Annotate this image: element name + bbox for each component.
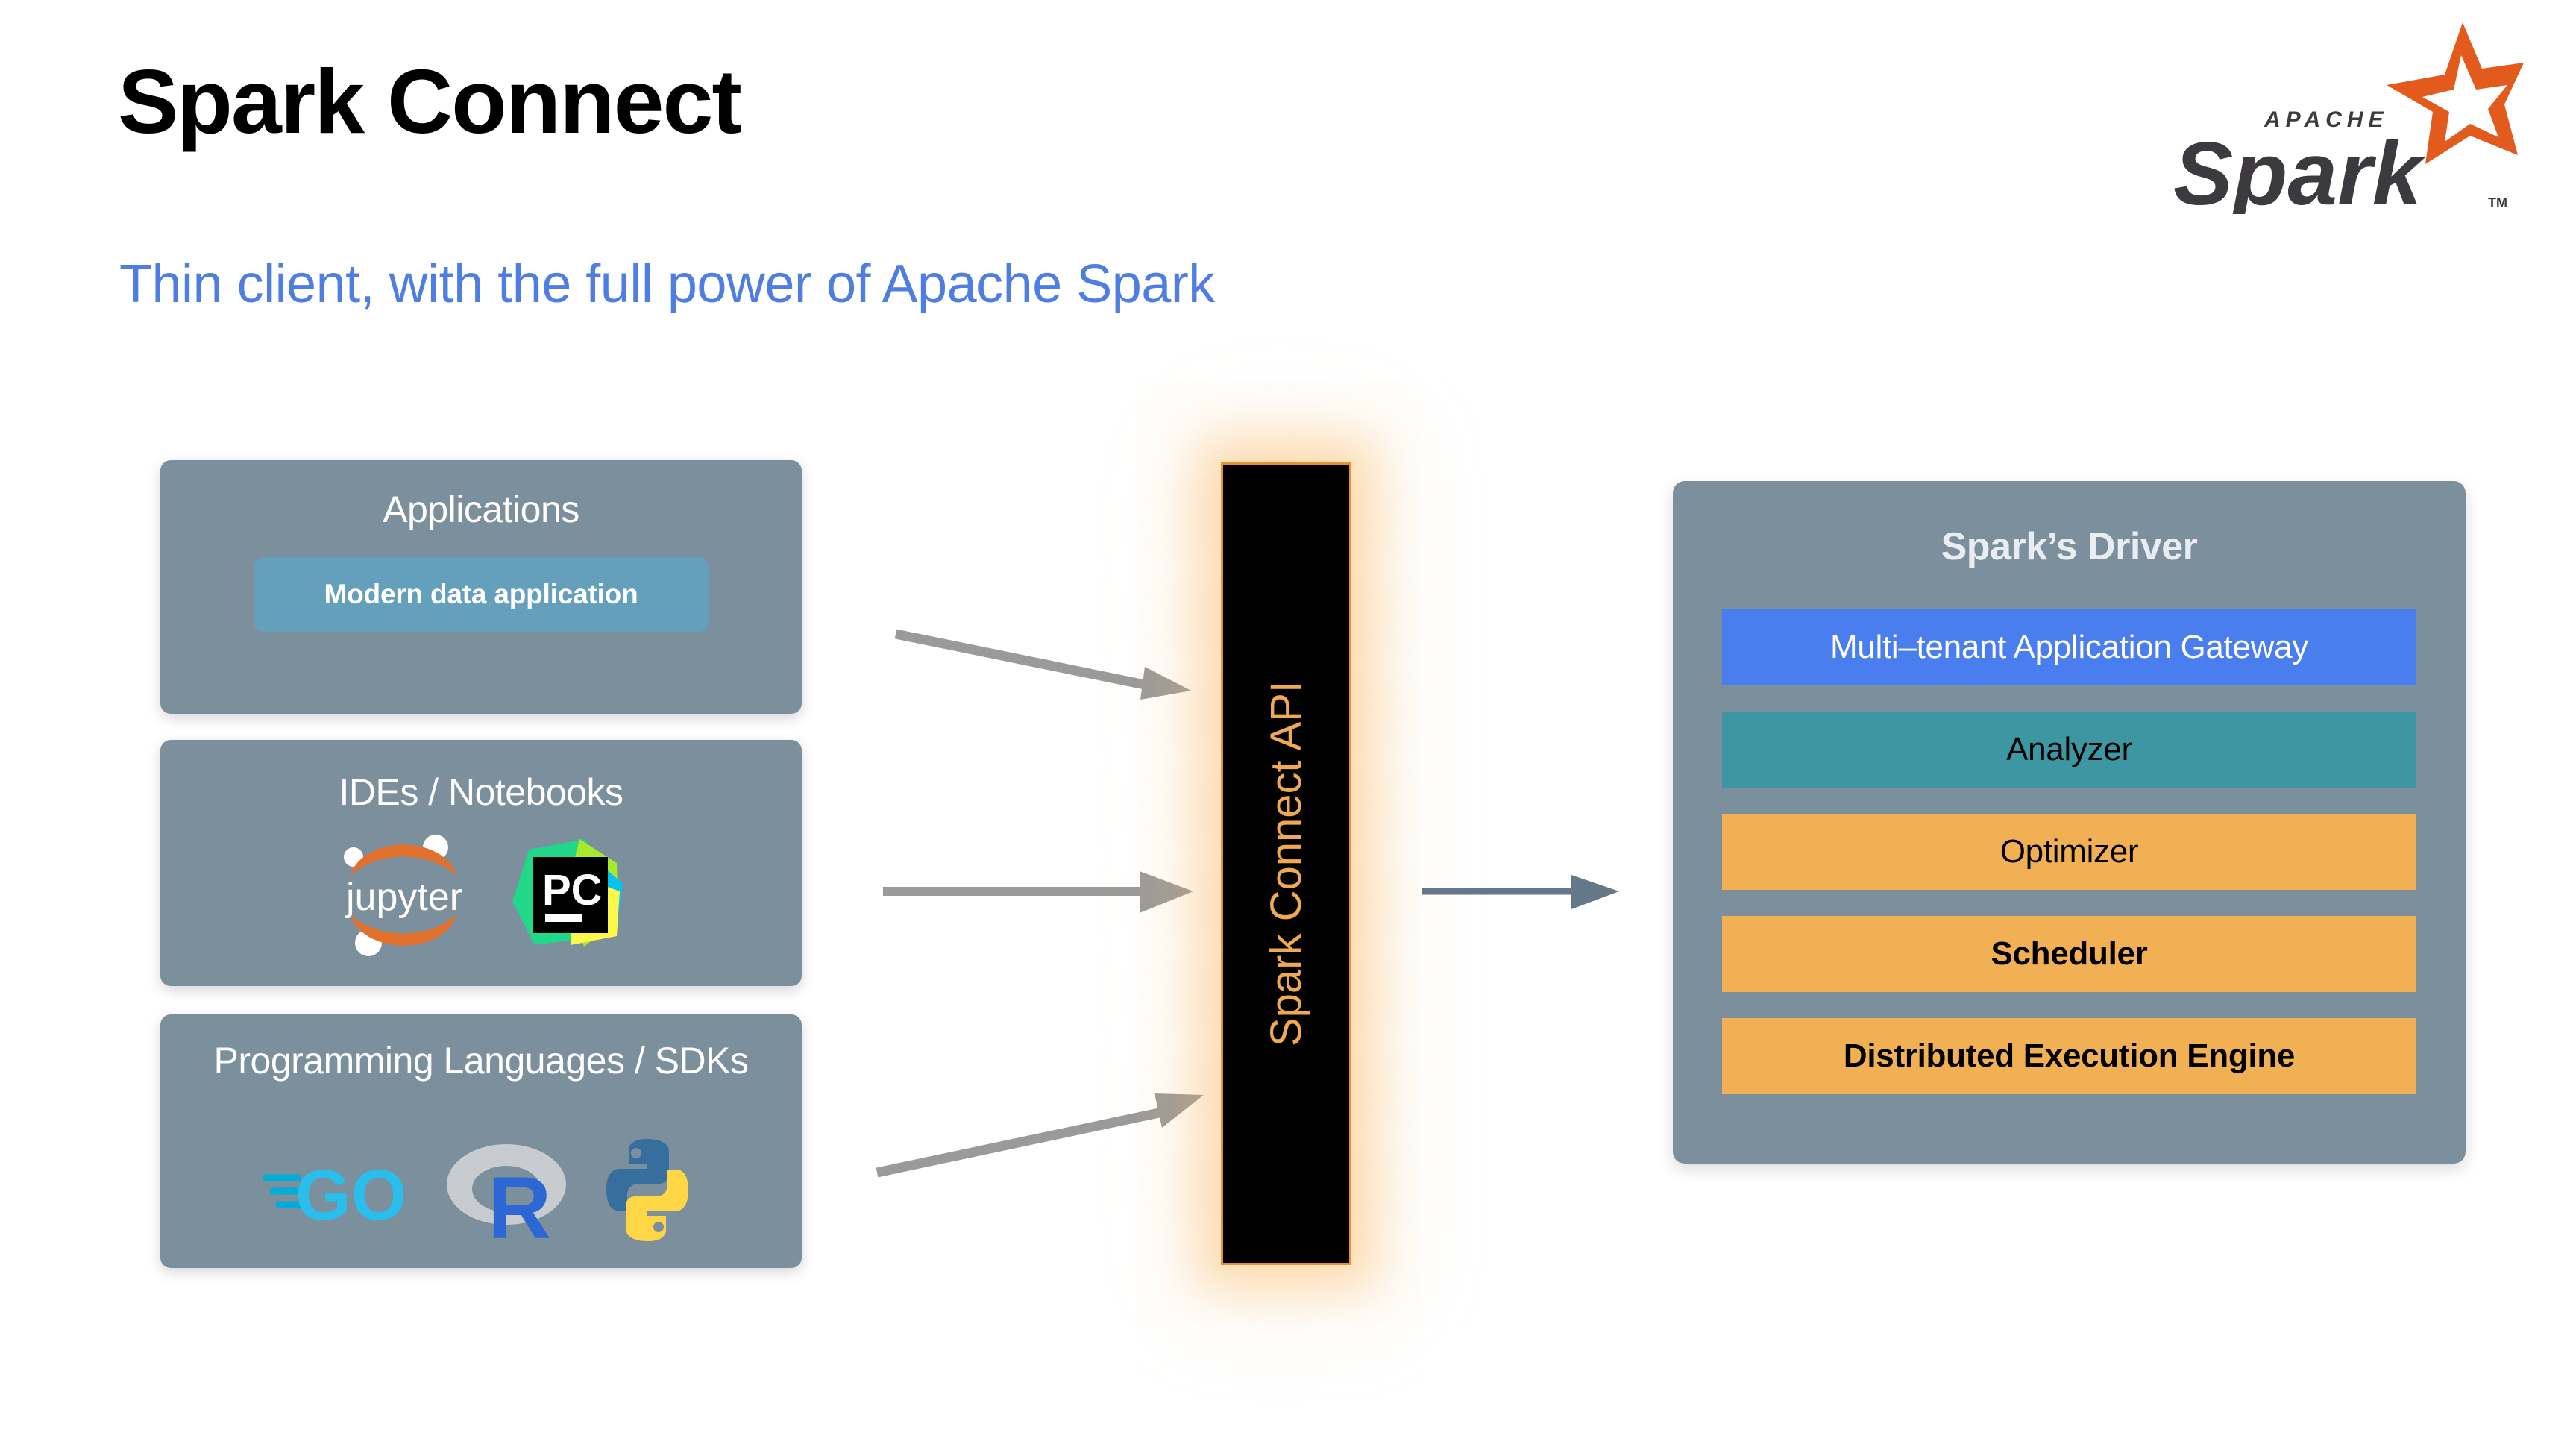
jupyter-wordmark: jupyter [345, 876, 462, 919]
spark-driver-panel: Spark’s Driver Multi–tenant Application … [1673, 481, 2466, 1164]
arrow-applications-to-api [891, 619, 1204, 716]
pycharm-logo: PC [506, 833, 626, 956]
panel-title-ides-notebooks: IDEs / Notebooks [160, 740, 802, 813]
client-panel-programming-languages: Programming Languages / SDKs GO R [160, 1014, 802, 1268]
jupyter-logo: jupyter [337, 829, 483, 960]
driver-row-distributed-execution-engine[interactable]: Distributed Execution Engine [1722, 1018, 2416, 1094]
driver-row-analyzer[interactable]: Analyzer [1722, 712, 2416, 788]
python-logo [594, 1136, 700, 1244]
logo-spark-text: Spark [2173, 124, 2426, 214]
arrow-api-to-driver [1421, 861, 1622, 921]
logo-trademark-text: TM [2488, 195, 2507, 210]
spark-connect-api-label: Spark Connect API [1261, 681, 1311, 1046]
apache-spark-logo: APACHE Spark TM [2151, 16, 2524, 214]
driver-row-scheduler[interactable]: Scheduler [1722, 916, 2416, 992]
driver-row-multi-tenant-application-gateway[interactable]: Multi–tenant Application Gateway [1722, 609, 2416, 685]
driver-row-optimizer[interactable]: Optimizer [1722, 814, 2416, 890]
page-subtitle: Thin client, with the full power of Apac… [119, 257, 1215, 311]
r-wordmark: R [488, 1159, 551, 1246]
arrow-ides-to-api [880, 850, 1201, 932]
panel-title-applications: Applications [160, 460, 802, 530]
panel-title-programming-languages: Programming Languages / SDKs [160, 1014, 802, 1082]
arrow-languages-to-api [873, 1044, 1208, 1178]
go-wordmark: GO [295, 1155, 406, 1234]
pycharm-pc-text: PC [542, 866, 603, 914]
go-logo: GO [263, 1145, 419, 1234]
client-panel-ides-notebooks: IDEs / Notebooks jupyter PC [160, 740, 802, 986]
page-title: Spark Connect [118, 56, 741, 147]
driver-panel-title: Spark’s Driver [1673, 481, 2466, 569]
r-logo: R [442, 1134, 572, 1246]
spark-connect-api-bar[interactable]: Spark Connect API [1221, 462, 1351, 1265]
modern-data-application-box[interactable]: Modern data application [254, 557, 709, 632]
client-panel-applications: Applications Modern data application [160, 460, 802, 714]
